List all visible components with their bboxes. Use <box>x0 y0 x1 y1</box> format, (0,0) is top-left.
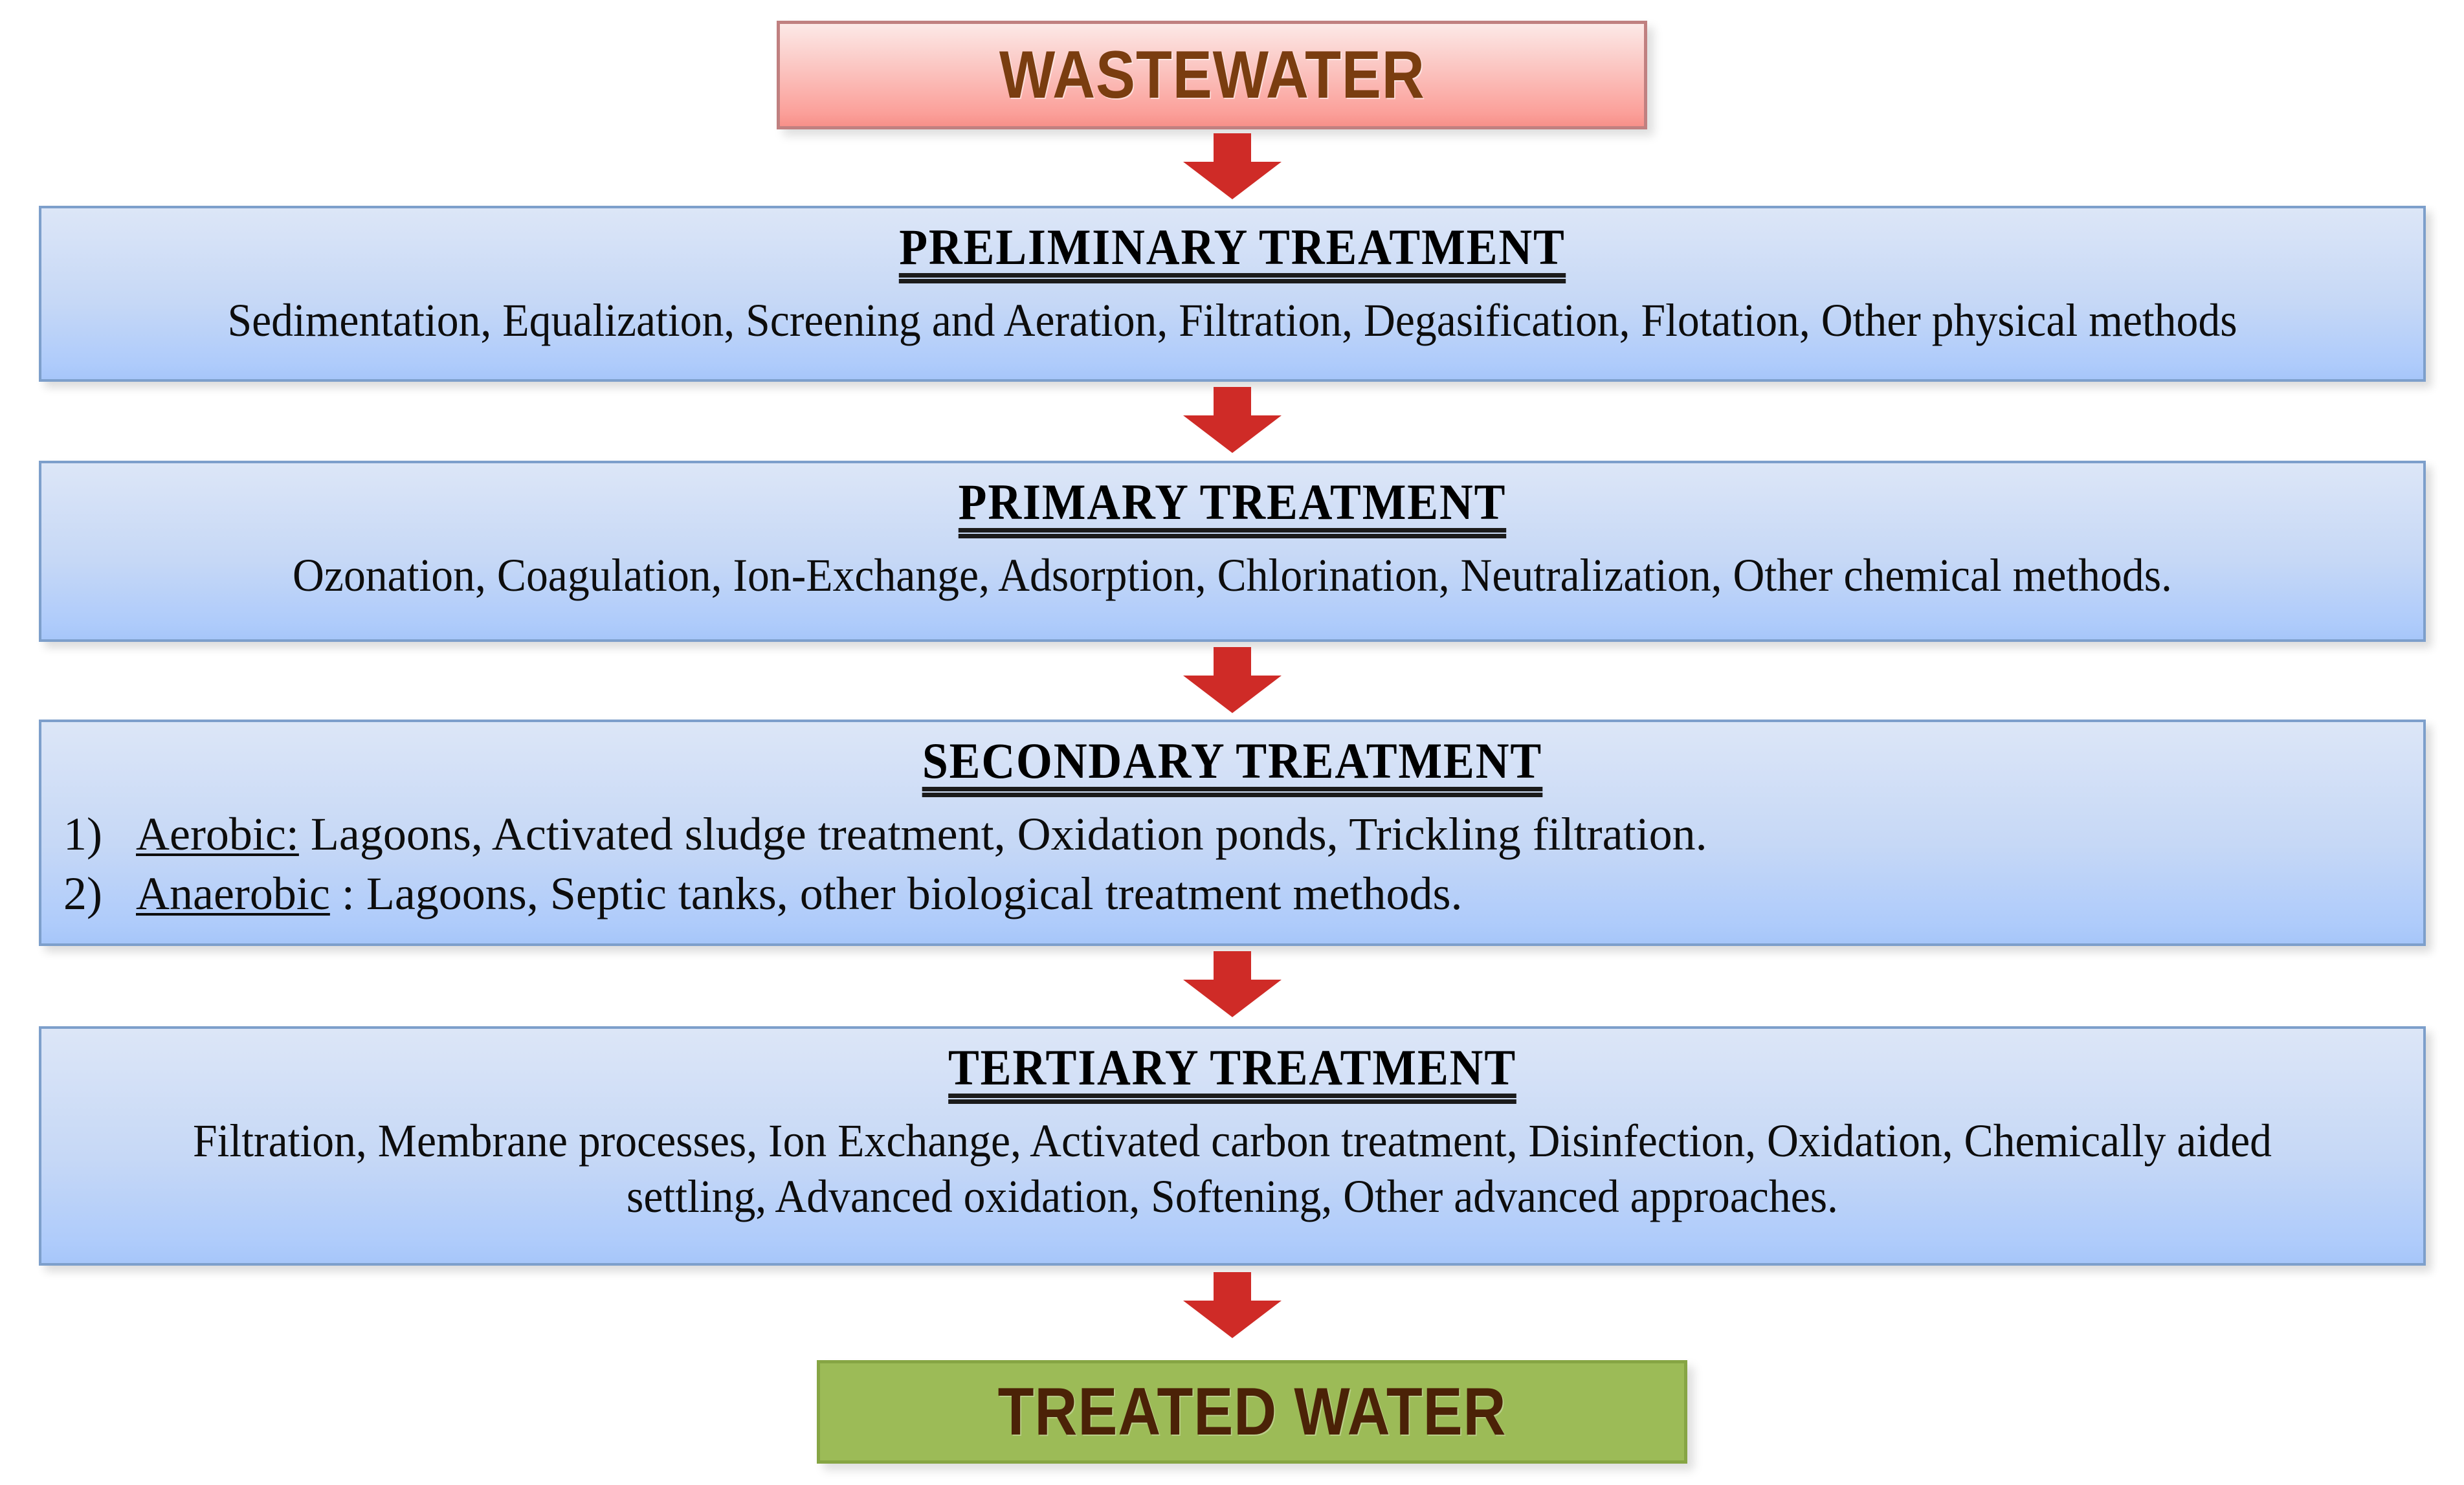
flow-arrow-down-icon <box>1183 1272 1282 1337</box>
flow-arrow-down-icon <box>1183 647 1282 712</box>
primary-treatment-body: Ozonation, Coagulation, Ion-Exchange, Ad… <box>129 547 2336 603</box>
wastewater-treatment-flowchart: WASTEWATER PRELIMINARY TREATMENT Sedimen… <box>0 0 2464 1485</box>
arrow-head <box>1183 1301 1282 1338</box>
list-item-text: Anaerobic : Lagoons, Septic tanks, other… <box>136 866 2406 921</box>
arrow-head <box>1183 162 1282 199</box>
arrow-head <box>1183 980 1282 1017</box>
preliminary-treatment-box: PRELIMINARY TREATMENT Sedimentation, Equ… <box>39 206 2426 382</box>
secondary-title-text: SECONDARY TREATMENT <box>922 735 1542 797</box>
list-item: 2) Anaerobic : Lagoons, Septic tanks, ot… <box>58 866 2406 921</box>
treated-water-label: TREATED WATER <box>998 1374 1507 1451</box>
aerobic-detail: Lagoons, Activated sludge treatment, Oxi… <box>299 808 1707 860</box>
anaerobic-term: Anaerobic <box>136 868 330 919</box>
list-item: 1) Aerobic: Lagoons, Activated sludge tr… <box>58 806 2406 862</box>
tertiary-treatment-box: TERTIARY TREATMENT Filtration, Membrane … <box>39 1026 2426 1266</box>
list-marker: 1) <box>58 806 136 862</box>
treated-water-output-box: TREATED WATER <box>817 1360 1687 1464</box>
preliminary-title-text: PRELIMINARY TREATMENT <box>899 221 1566 283</box>
tertiary-treatment-title: TERTIARY TREATMENT <box>152 1042 2313 1104</box>
secondary-treatment-box: SECONDARY TREATMENT 1) Aerobic: Lagoons,… <box>39 720 2426 946</box>
wastewater-label: WASTEWATER <box>999 37 1425 114</box>
aerobic-term: Aerobic: <box>136 808 299 860</box>
preliminary-treatment-body: Sedimentation, Equalization, Screening a… <box>129 292 2336 348</box>
anaerobic-detail: : Lagoons, Septic tanks, other biologica… <box>330 868 1463 919</box>
secondary-treatment-title: SECONDARY TREATMENT <box>152 735 2313 797</box>
arrow-head <box>1183 676 1282 713</box>
primary-title-text: PRIMARY TREATMENT <box>959 476 1507 538</box>
list-item-text: Aerobic: Lagoons, Activated sludge treat… <box>136 806 2406 862</box>
list-marker: 2) <box>58 866 136 921</box>
preliminary-treatment-title: PRELIMINARY TREATMENT <box>152 221 2313 283</box>
tertiary-treatment-body: Filtration, Membrane processes, Ion Exch… <box>129 1113 2336 1225</box>
flow-arrow-down-icon <box>1183 387 1282 452</box>
tertiary-title-text: TERTIARY TREATMENT <box>948 1042 1516 1104</box>
wastewater-input-box: WASTEWATER <box>777 21 1647 129</box>
primary-treatment-title: PRIMARY TREATMENT <box>152 476 2313 538</box>
flow-arrow-down-icon <box>1183 951 1282 1016</box>
secondary-treatment-list: 1) Aerobic: Lagoons, Activated sludge tr… <box>58 806 2406 922</box>
primary-treatment-box: PRIMARY TREATMENT Ozonation, Coagulation… <box>39 461 2426 642</box>
arrow-head <box>1183 415 1282 453</box>
flow-arrow-down-icon <box>1183 133 1282 198</box>
